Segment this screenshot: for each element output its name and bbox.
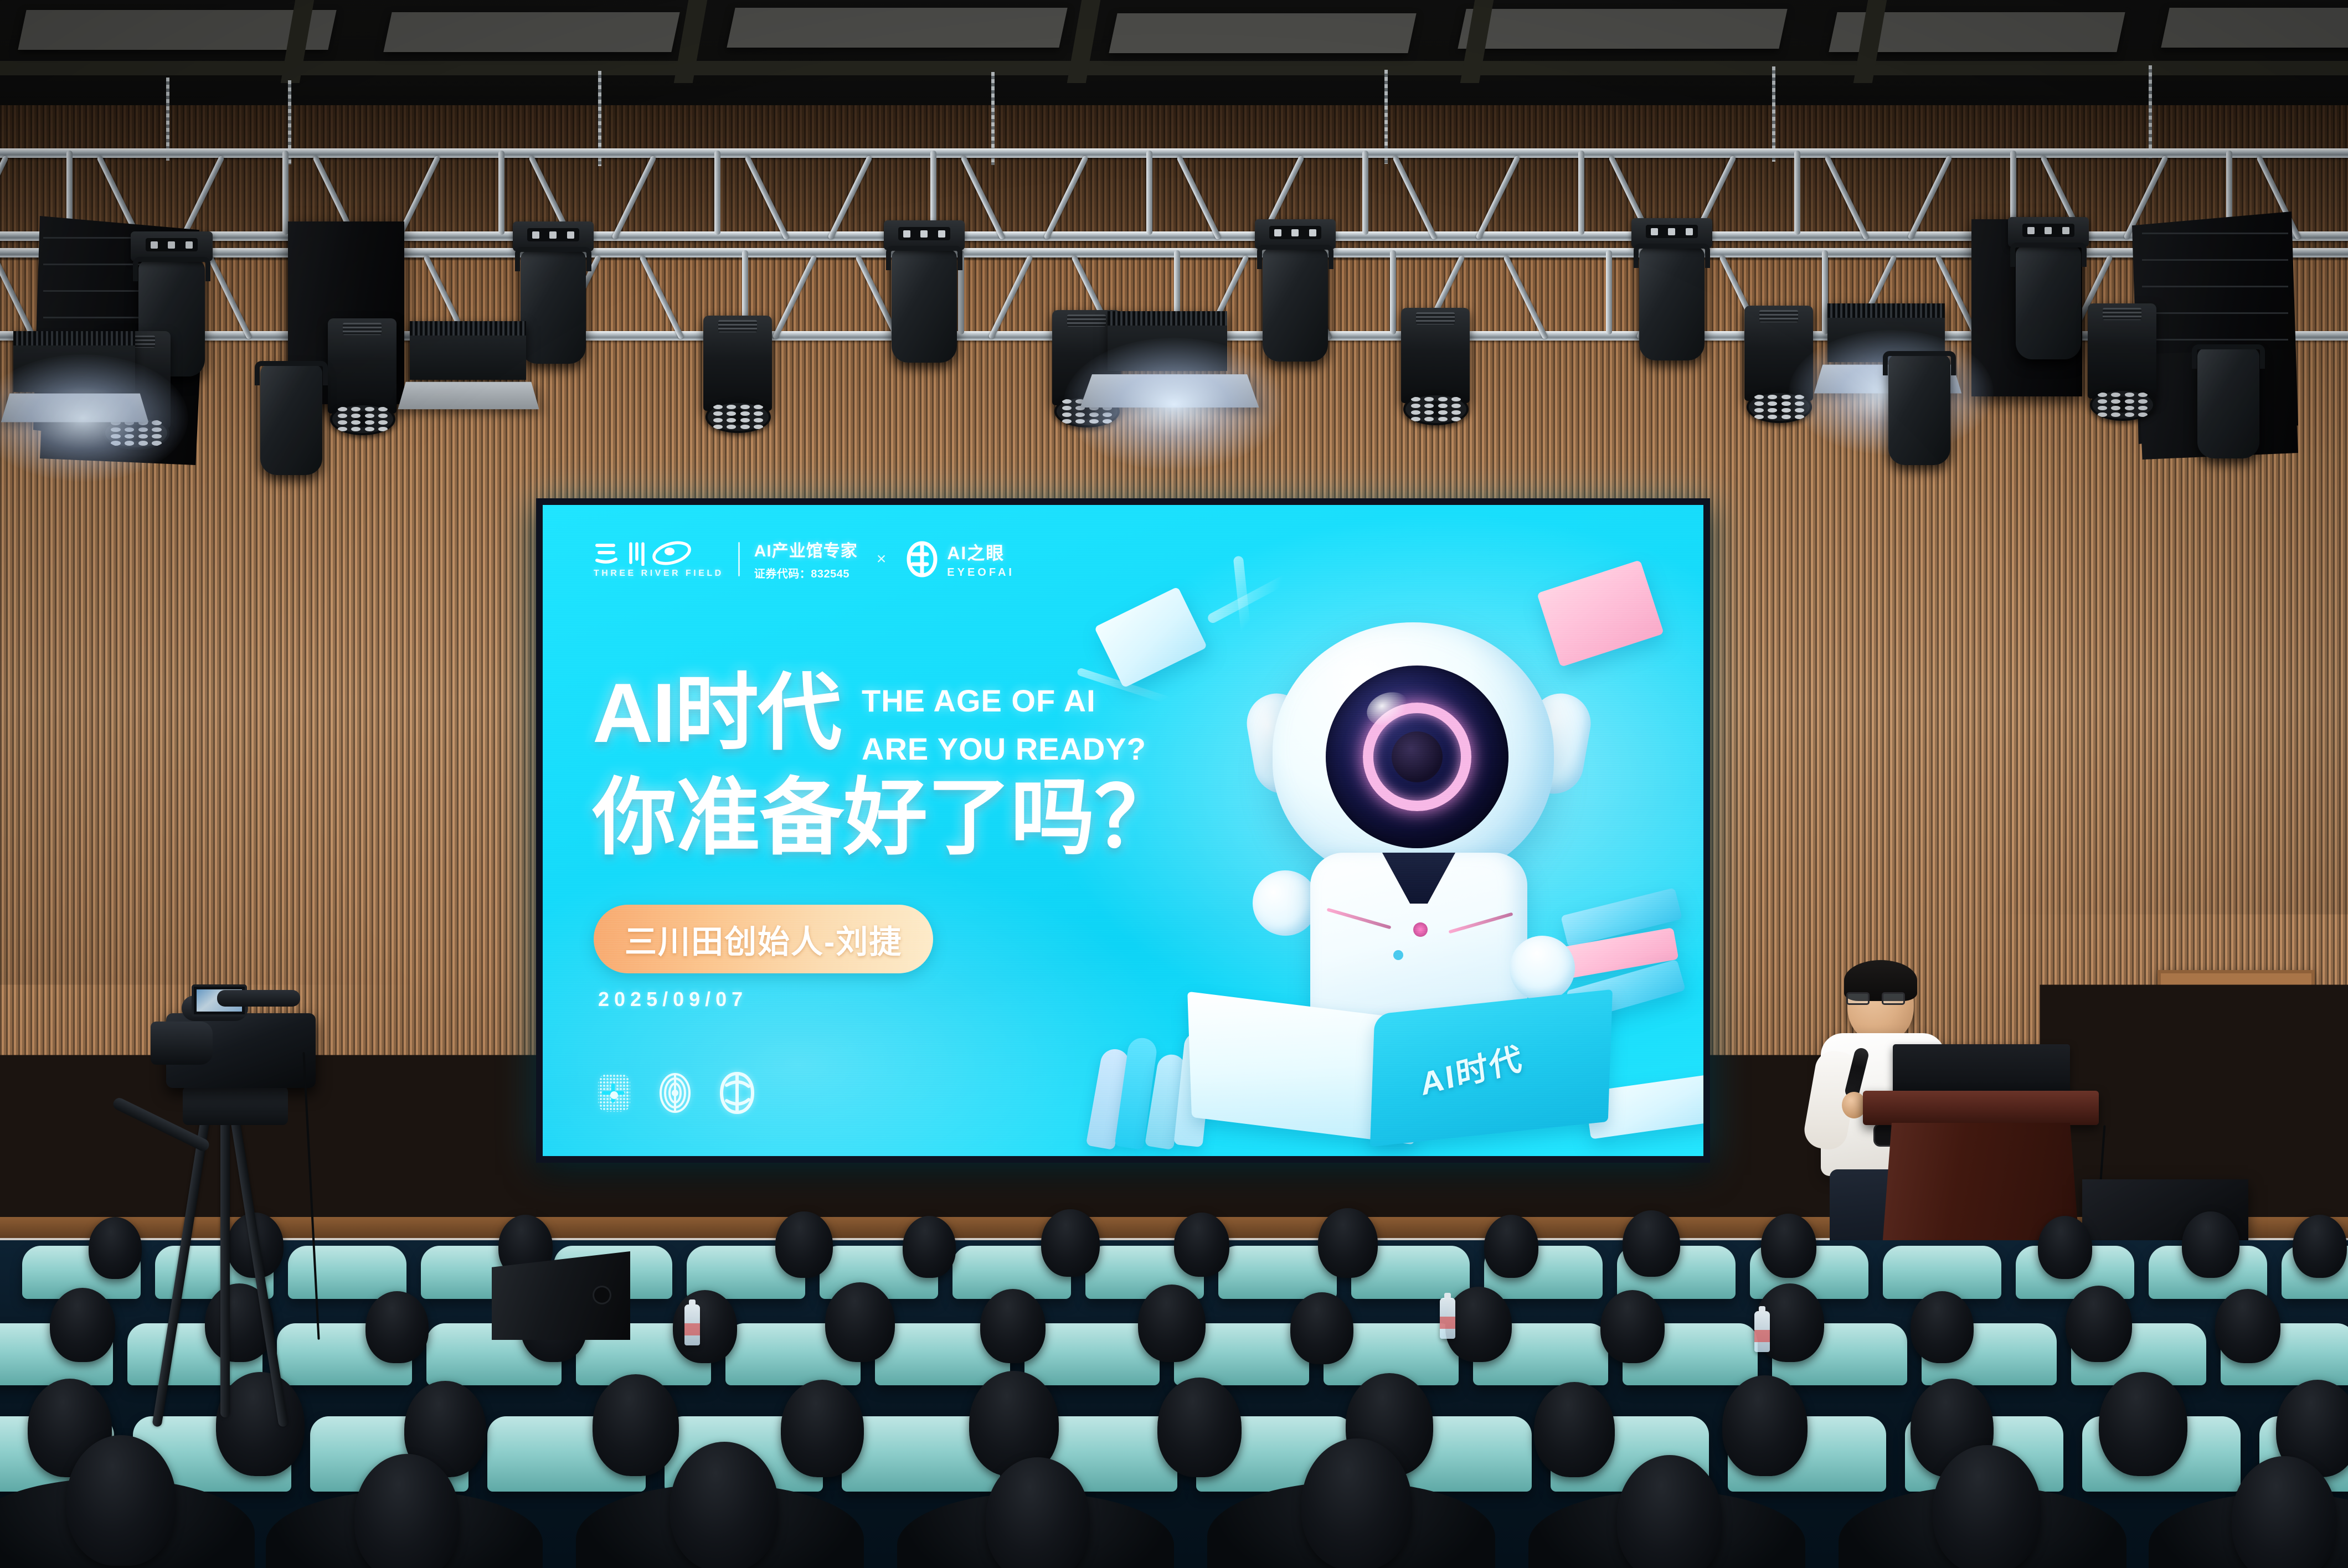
barn-door-flap bbox=[398, 382, 539, 409]
slide-footer-icons bbox=[596, 1071, 756, 1115]
eye-mark-ripple-icon bbox=[657, 1071, 693, 1115]
audience-head-front bbox=[1933, 1445, 2041, 1568]
audience-house bbox=[0, 1240, 2348, 1568]
eye-mark-outline-icon bbox=[718, 1071, 756, 1115]
par-can-light bbox=[328, 318, 397, 414]
headline-en-line2: ARE YOU READY? bbox=[862, 731, 1146, 767]
audience-head bbox=[1623, 1210, 1680, 1277]
led-flood-light bbox=[410, 321, 526, 380]
tripod-leg bbox=[220, 1118, 230, 1417]
moving-head-light bbox=[260, 364, 322, 475]
eye-of-ai-glyph-icon bbox=[905, 541, 939, 577]
auditorium-seat[interactable] bbox=[288, 1246, 406, 1299]
par-can-lens bbox=[706, 401, 771, 433]
ceiling-acoustic-panel bbox=[727, 8, 1067, 48]
panel-label-plate-top bbox=[2221, 1008, 2251, 1019]
ceiling-acoustic-panel bbox=[2161, 8, 2348, 48]
ceiling-beam bbox=[0, 61, 2348, 75]
audience-head bbox=[2038, 1216, 2092, 1279]
audience-head bbox=[1157, 1378, 1242, 1477]
moving-head-light bbox=[2197, 348, 2259, 458]
par-can-lens bbox=[330, 403, 395, 435]
auditorium-scene: THREE RIVER FIELD AI产业馆专家 证券代码：832545 × bbox=[0, 0, 2348, 1568]
three-river-field-glyph-icon bbox=[594, 540, 692, 566]
par-can-light bbox=[1744, 306, 1813, 401]
led-flood-light bbox=[1108, 311, 1227, 371]
camera-lens bbox=[151, 1022, 213, 1065]
audience-head bbox=[1911, 1291, 1974, 1363]
truss-chain bbox=[1772, 66, 1775, 162]
audience-head bbox=[775, 1211, 833, 1278]
robot-chest-button bbox=[1413, 922, 1428, 937]
slide-logo-bar: THREE RIVER FIELD AI产业馆专家 证券代码：832545 × bbox=[594, 537, 1015, 581]
audience-head bbox=[2293, 1215, 2347, 1278]
robot-collar bbox=[1382, 853, 1455, 904]
eye-of-ai-en-label: EYEOFAI bbox=[947, 566, 1015, 579]
robot-head bbox=[1273, 622, 1554, 883]
ceiling-acoustic-panel bbox=[1458, 9, 1787, 49]
audience-head bbox=[50, 1288, 115, 1362]
audience-head bbox=[1445, 1287, 1512, 1362]
audience-head bbox=[593, 1374, 679, 1476]
speaker-name-text: 三川田创始人-刘捷 bbox=[625, 924, 902, 960]
camera-top-handle[interactable] bbox=[217, 990, 300, 1007]
eye-of-ai-cn-label: AI之眼 bbox=[947, 539, 1015, 565]
open-book: AI时代 bbox=[1190, 992, 1610, 1131]
lectern-top-surface bbox=[1863, 1091, 2099, 1125]
audience-head bbox=[2099, 1372, 2187, 1476]
moving-head-light bbox=[1263, 248, 1328, 362]
audience-head bbox=[980, 1289, 1046, 1363]
water-bottle bbox=[1440, 1298, 1455, 1339]
logo-divider bbox=[738, 542, 740, 576]
water-bottle bbox=[1754, 1311, 1770, 1352]
led-presentation-screen[interactable]: THREE RIVER FIELD AI产业馆专家 证券代码：832545 × bbox=[536, 498, 1710, 1163]
audience-head bbox=[1290, 1292, 1353, 1364]
truss-chain bbox=[2149, 65, 2152, 158]
moving-head-light bbox=[521, 250, 586, 364]
audience-head bbox=[2066, 1286, 2132, 1362]
ceiling-acoustic-panel bbox=[383, 12, 679, 52]
three-river-field-logo: THREE RIVER FIELD bbox=[594, 540, 724, 579]
par-can-light bbox=[703, 316, 772, 411]
moving-head-light bbox=[1888, 354, 1950, 465]
audience-head bbox=[1318, 1208, 1378, 1278]
headline-cn-line1: AI时代 bbox=[593, 671, 841, 755]
slide-canvas: THREE RIVER FIELD AI产业馆专家 证券代码：832545 × bbox=[543, 505, 1703, 1156]
electrical-panel-box[interactable] bbox=[2177, 990, 2295, 1090]
panel-label-plate-bottom bbox=[2223, 1074, 2249, 1082]
audience-head bbox=[1722, 1375, 1808, 1476]
book-cover-title: AI时代 bbox=[1418, 1033, 1526, 1105]
barn-door-flap bbox=[1080, 374, 1259, 408]
audience-head bbox=[89, 1217, 142, 1279]
audience-head bbox=[2182, 1211, 2239, 1278]
audience-head bbox=[1174, 1213, 1229, 1277]
water-bottle bbox=[684, 1304, 700, 1345]
audience-head-front bbox=[670, 1442, 779, 1568]
ceiling-acoustic-panel bbox=[1109, 13, 1416, 53]
speaker-name-badge: 三川田创始人-刘捷 bbox=[594, 905, 933, 973]
par-can-light bbox=[1401, 308, 1470, 403]
par-can-lens bbox=[1747, 391, 1812, 423]
robot-eye bbox=[1326, 666, 1508, 848]
robot-stripe bbox=[1326, 908, 1391, 930]
stock-code-text: 证券代码：832545 bbox=[754, 565, 858, 581]
audience-head bbox=[1484, 1215, 1538, 1278]
robot-stripe bbox=[1448, 912, 1513, 934]
barn-door-flap bbox=[1, 394, 148, 422]
audience-head-front bbox=[1301, 1438, 1412, 1568]
par-can-lens bbox=[2090, 389, 2155, 421]
led-flood-light bbox=[13, 331, 135, 392]
slide-date: 2025/09/07 bbox=[598, 988, 748, 1011]
audience-head bbox=[1041, 1209, 1100, 1277]
eye-of-ai-logo: AI之眼 EYEOFAI bbox=[905, 539, 1015, 579]
audience-head bbox=[365, 1291, 429, 1363]
audience-head bbox=[781, 1380, 864, 1477]
three-river-field-en-label: THREE RIVER FIELD bbox=[594, 569, 724, 579]
panel-latch-icon[interactable] bbox=[2196, 1035, 2203, 1056]
par-can-light bbox=[2088, 303, 2156, 399]
presenter-glasses-icon bbox=[1846, 992, 1905, 1005]
book-page-right: AI时代 bbox=[1370, 989, 1613, 1147]
audience-head bbox=[673, 1290, 737, 1363]
audience-head bbox=[1534, 1382, 1615, 1477]
audience-head bbox=[903, 1216, 956, 1278]
warning-triangle-icon bbox=[2227, 1037, 2246, 1054]
robot-pupil bbox=[1392, 731, 1443, 782]
audience-head bbox=[2215, 1289, 2280, 1363]
moving-head-light bbox=[1639, 247, 1705, 360]
audience-head bbox=[1761, 1214, 1816, 1278]
slide-headline: AI时代 THE AGE OF AI ARE YOU READY? 你准备好了吗… bbox=[593, 671, 1246, 861]
moving-head-light bbox=[2016, 246, 2081, 359]
tagline-text: AI产业馆专家 bbox=[754, 537, 858, 561]
ai-robot-mascot: AI时代 bbox=[1180, 610, 1667, 1131]
three-river-field-tagline-block: AI产业馆专家 证券代码：832545 bbox=[754, 537, 858, 581]
headline-en-line1: THE AGE OF AI bbox=[862, 683, 1146, 719]
eye-mark-dotted-icon bbox=[596, 1071, 632, 1115]
collaboration-cross-icon: × bbox=[877, 550, 887, 569]
audience-head bbox=[1600, 1290, 1665, 1363]
audience-head bbox=[825, 1282, 895, 1362]
audience-head-front bbox=[66, 1435, 176, 1566]
moving-head-light bbox=[892, 249, 957, 363]
par-can-lens bbox=[1403, 393, 1469, 425]
robot-chest-light bbox=[1393, 950, 1403, 960]
audience-head bbox=[1138, 1285, 1206, 1362]
tripod-fluid-head[interactable] bbox=[183, 1086, 288, 1125]
headline-cn-line2: 你准备好了吗？ bbox=[593, 775, 1246, 861]
